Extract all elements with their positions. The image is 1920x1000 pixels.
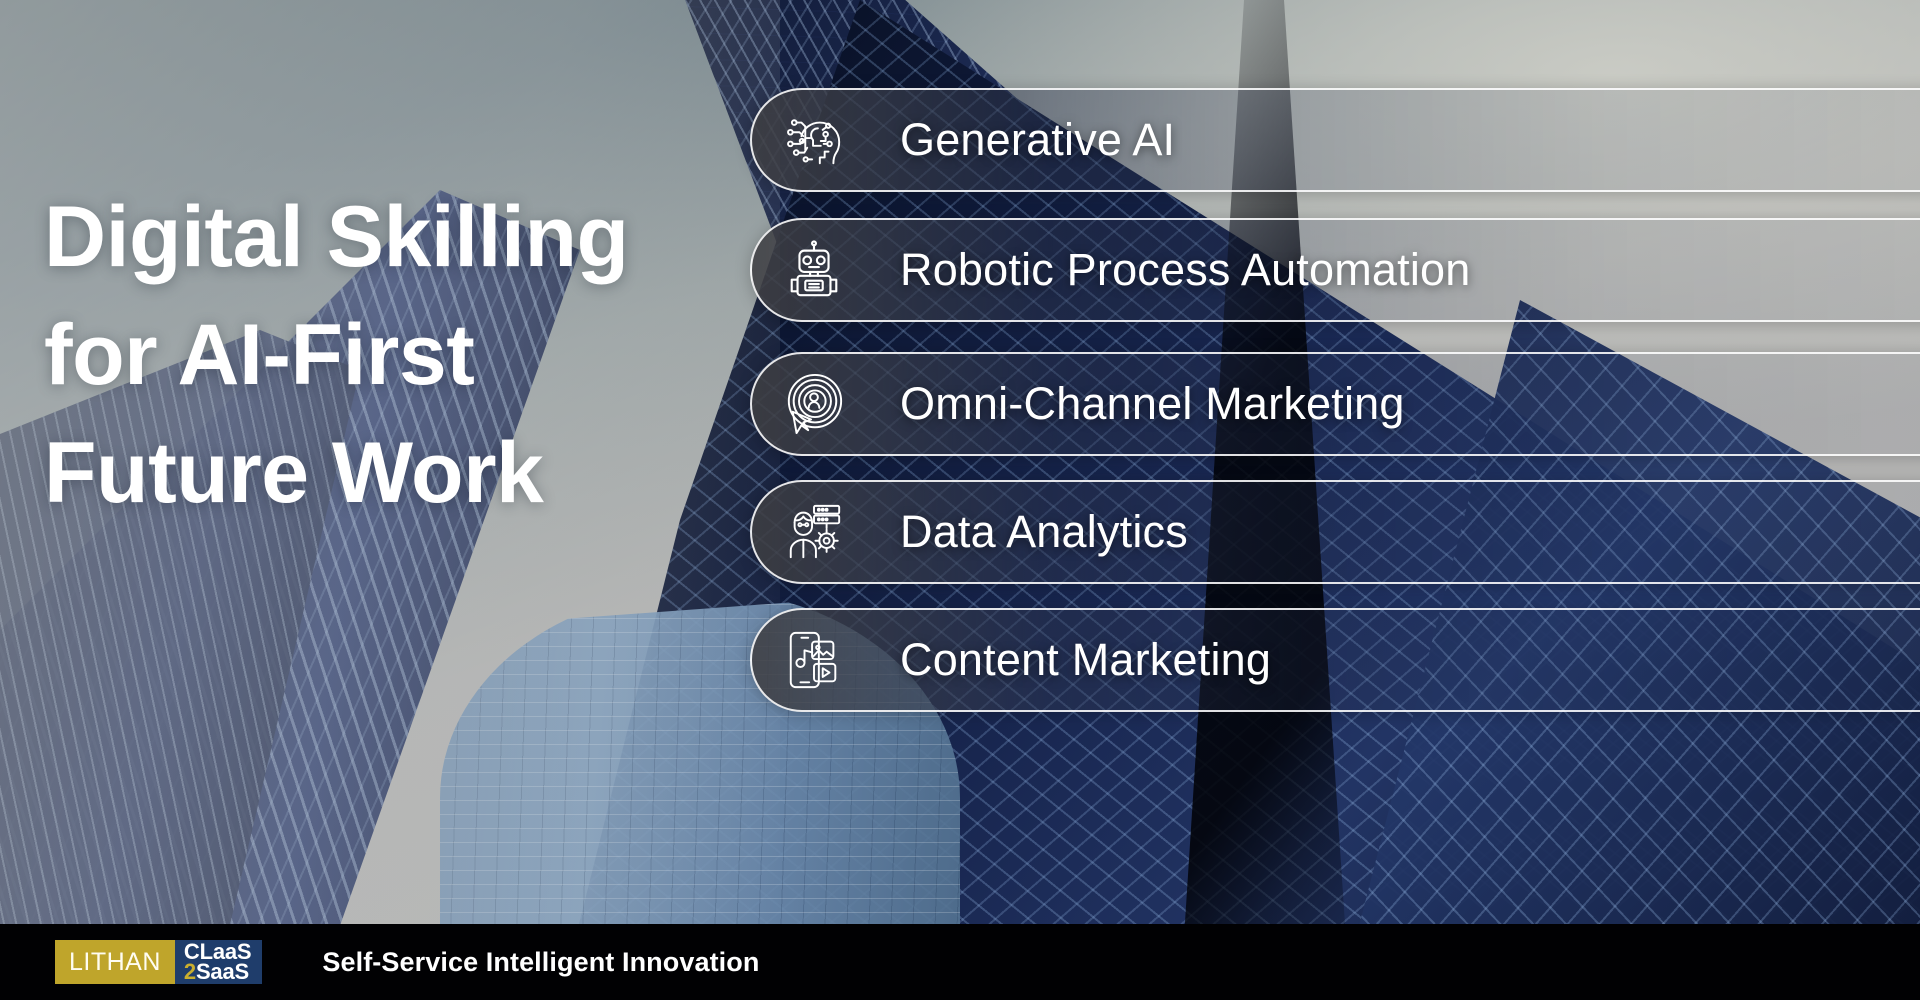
footer-tagline: Self-Service Intelligent Innovation xyxy=(322,947,759,978)
pill-label: Robotic Process Automation xyxy=(900,244,1471,296)
pill-item-data-analytics[interactable]: Data Analytics xyxy=(750,480,1920,584)
ai-head-circuit-icon xyxy=(762,88,866,192)
target-audience-cursor-icon xyxy=(762,352,866,456)
logo-product-line-2-text: SaaS xyxy=(196,959,249,984)
logo-brand-lithan: LITHAN xyxy=(55,940,175,984)
pill-item-content-marketing[interactable]: Content Marketing xyxy=(750,608,1920,712)
logo-digit-two: 2 xyxy=(184,959,196,984)
logo-product-claas2saas: CLaaS 2SaaS xyxy=(175,940,262,984)
pill-item-omni-channel-marketing[interactable]: Omni-Channel Marketing xyxy=(750,352,1920,456)
logo-product-line-2: 2SaaS xyxy=(184,962,251,982)
skill-pill-list: Generative AI Robotic Process Automation xyxy=(0,0,1920,924)
pill-item-generative-ai[interactable]: Generative AI xyxy=(750,88,1920,192)
footer-bar: LITHAN CLaaS 2SaaS Self-Service Intellig… xyxy=(0,924,1920,1000)
pill-label: Data Analytics xyxy=(900,506,1188,558)
slide-canvas: Digital Skilling for AI-First Future Wor… xyxy=(0,0,1920,1000)
pill-label: Content Marketing xyxy=(900,634,1271,686)
pill-item-robotic-process-automation[interactable]: Robotic Process Automation xyxy=(750,218,1920,322)
pill-label: Generative AI xyxy=(900,114,1175,166)
mobile-media-content-icon xyxy=(762,608,866,712)
analyst-server-gear-icon xyxy=(762,480,866,584)
robot-icon xyxy=(762,218,866,322)
lithan-claas2saas-logo[interactable]: LITHAN CLaaS 2SaaS xyxy=(55,940,262,984)
pill-label: Omni-Channel Marketing xyxy=(900,378,1405,430)
